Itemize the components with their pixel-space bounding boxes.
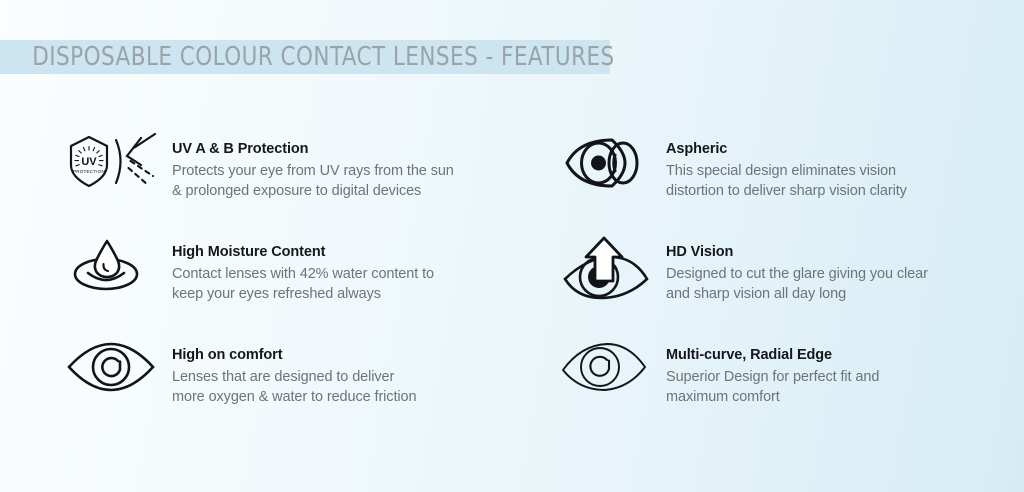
feature-body: Contact lenses with 42% water content to… bbox=[172, 264, 434, 305]
feature-heading: UV A & B Protection bbox=[172, 140, 454, 160]
feature-body-line: keep your eyes refreshed always bbox=[172, 284, 434, 305]
feature-text: Multi-curve, Radial Edge Superior Design… bbox=[666, 324, 879, 408]
feature-body-line: This special design eliminates vision bbox=[666, 161, 907, 182]
aspheric-eye-lens-icon bbox=[540, 118, 666, 194]
feature-body-line: Protects your eye from UV rays from the … bbox=[172, 161, 454, 182]
feature-body: This special design eliminates vision di… bbox=[666, 161, 907, 202]
feature-high-moisture-content: High Moisture Content Contact lenses wit… bbox=[0, 221, 540, 324]
feature-aspheric: Aspheric This special design eliminates … bbox=[540, 118, 1024, 221]
multi-curve-eye-icon bbox=[540, 324, 666, 396]
eye-up-arrow-icon bbox=[540, 221, 666, 303]
feature-text: Aspheric This special design eliminates … bbox=[666, 118, 907, 202]
feature-body-line: maximum comfort bbox=[666, 387, 879, 408]
feature-uv-protection: UV PROTECTION UV A & B Protection Protec… bbox=[0, 118, 540, 221]
feature-body-line: Superior Design for perfect fit and bbox=[666, 367, 879, 388]
page-title: DISPOSABLE COLOUR CONTACT LENSES - FEATU… bbox=[0, 42, 615, 72]
feature-body: Lenses that are designed to deliver more… bbox=[172, 367, 416, 408]
uv-shield-icon: UV PROTECTION bbox=[50, 118, 172, 194]
feature-body-line: Contact lenses with 42% water content to bbox=[172, 264, 434, 285]
feature-hd-vision: HD Vision Designed to cut the glare givi… bbox=[540, 221, 1024, 324]
feature-heading: High on comfort bbox=[172, 346, 416, 366]
feature-text: HD Vision Designed to cut the glare givi… bbox=[666, 221, 928, 305]
features-grid: UV PROTECTION UV A & B Protection Protec… bbox=[0, 118, 1024, 427]
feature-multi-curve-radial-edge: Multi-curve, Radial Edge Superior Design… bbox=[540, 324, 1024, 427]
feature-body-line: more oxygen & water to reduce friction bbox=[172, 387, 416, 408]
feature-body-line: Lenses that are designed to deliver bbox=[172, 367, 416, 388]
feature-heading: HD Vision bbox=[666, 243, 928, 263]
feature-body: Protects your eye from UV rays from the … bbox=[172, 161, 454, 202]
svg-text:PROTECTION: PROTECTION bbox=[73, 169, 105, 174]
feature-heading: High Moisture Content bbox=[172, 243, 434, 263]
eye-spiral-pupil-icon bbox=[50, 324, 172, 396]
page-title-band: DISPOSABLE COLOUR CONTACT LENSES - FEATU… bbox=[0, 40, 610, 74]
feature-heading: Multi-curve, Radial Edge bbox=[666, 346, 879, 366]
uv-icon-label: UV bbox=[81, 156, 97, 168]
feature-body-line: Designed to cut the glare giving you cle… bbox=[666, 264, 928, 285]
feature-body-line: distortion to deliver sharp vision clari… bbox=[666, 181, 907, 202]
feature-text: High on comfort Lenses that are designed… bbox=[172, 324, 416, 408]
feature-text: UV A & B Protection Protects your eye fr… bbox=[172, 118, 454, 202]
feature-body-line: & prolonged exposure to digital devices bbox=[172, 181, 454, 202]
feature-high-on-comfort: High on comfort Lenses that are designed… bbox=[0, 324, 540, 427]
feature-body-line: and sharp vision all day long bbox=[666, 284, 928, 305]
feature-text: High Moisture Content Contact lenses wit… bbox=[172, 221, 434, 305]
water-drop-lens-icon bbox=[50, 221, 172, 297]
feature-body: Superior Design for perfect fit and maxi… bbox=[666, 367, 879, 408]
feature-body: Designed to cut the glare giving you cle… bbox=[666, 264, 928, 305]
feature-heading: Aspheric bbox=[666, 140, 907, 160]
